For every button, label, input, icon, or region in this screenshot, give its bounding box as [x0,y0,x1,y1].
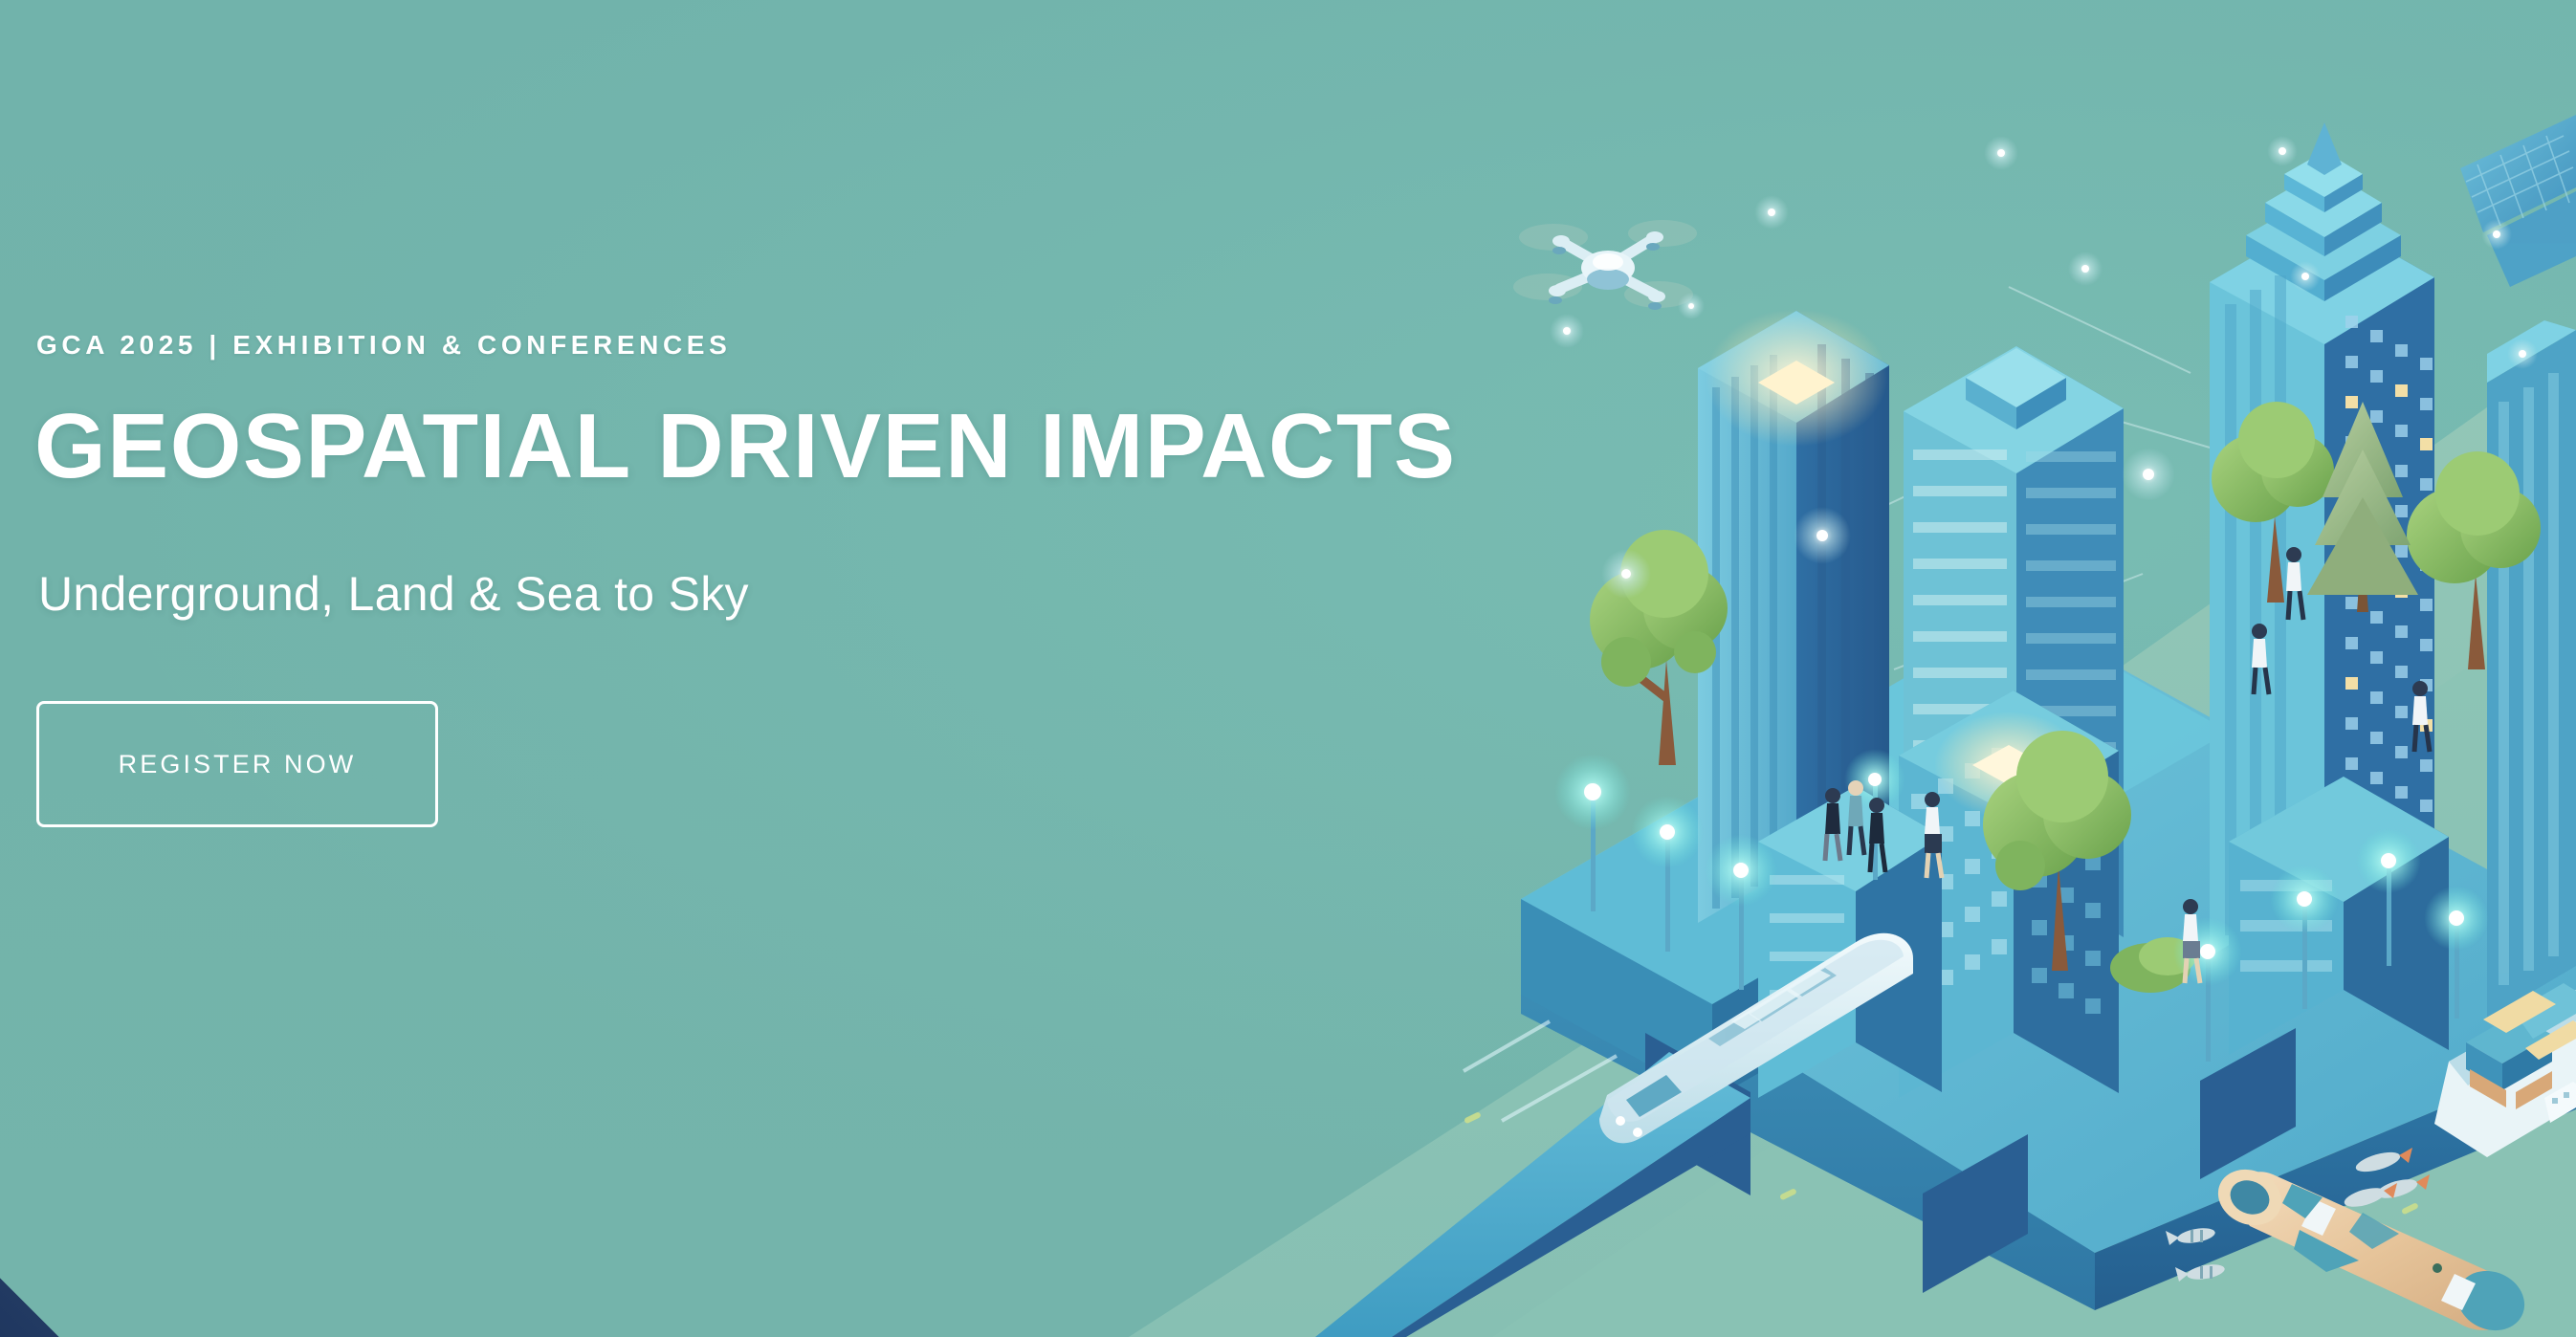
isometric-city-illustration [0,0,2576,1337]
roof-light-glow [1706,309,1887,447]
page-title: GEOSPATIAL DRIVEN IMPACTS [34,397,1457,496]
hero-banner: GCA 2025 | EXHIBITION & CONFERENCES GEOS… [0,0,2576,1337]
hero-subheadline: Underground, Land & Sea to Sky [38,566,749,622]
corner-wedge [0,1278,59,1337]
hero-eyebrow: GCA 2025 | EXHIBITION & CONFERENCES [36,330,731,361]
solar-panel-icon [2460,115,2576,287]
register-now-button[interactable]: Register Now [36,701,438,827]
drone-icon [1513,220,1697,310]
tower-right-edge [2487,320,2576,1019]
